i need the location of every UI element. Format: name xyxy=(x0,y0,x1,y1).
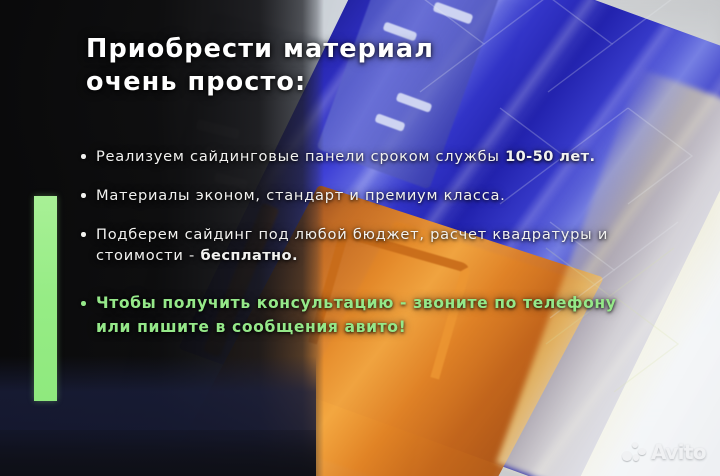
page-title: Приобрести материал очень просто: xyxy=(86,33,516,99)
list-item-text: Реализуем сайдинговые панели сроком служ… xyxy=(96,148,505,165)
avito-dots-icon xyxy=(622,442,646,462)
list-item-text: Материалы эконом, стандарт и премиум кла… xyxy=(96,187,506,204)
list-item: Материалы эконом, стандарт и премиум кла… xyxy=(76,185,656,206)
call-to-action-item: Чтобы получить консультацию - звоните по… xyxy=(76,292,656,339)
list-item: Реализуем сайдинговые панели сроком служ… xyxy=(76,146,656,167)
avito-watermark: Avito xyxy=(622,440,706,464)
call-to-action-text: Чтобы получить консультацию - звоните по… xyxy=(96,294,617,336)
poster-content: Приобрести материал очень просто: Реализ… xyxy=(0,0,720,476)
green-accent-bar xyxy=(34,196,57,401)
list-item-emphasis: бесплатно. xyxy=(200,247,297,264)
advertisement-poster: Приобрести материал очень просто: Реализ… xyxy=(0,0,720,476)
list-item-emphasis: 10-50 лет. xyxy=(505,148,595,165)
benefits-list: Реализуем сайдинговые панели сроком служ… xyxy=(76,146,656,357)
list-item-text: Подберем сайдинг под любой бюджет, расче… xyxy=(96,226,608,264)
avito-wordmark: Avito xyxy=(651,440,706,464)
list-item: Подберем сайдинг под любой бюджет, расче… xyxy=(76,224,656,266)
